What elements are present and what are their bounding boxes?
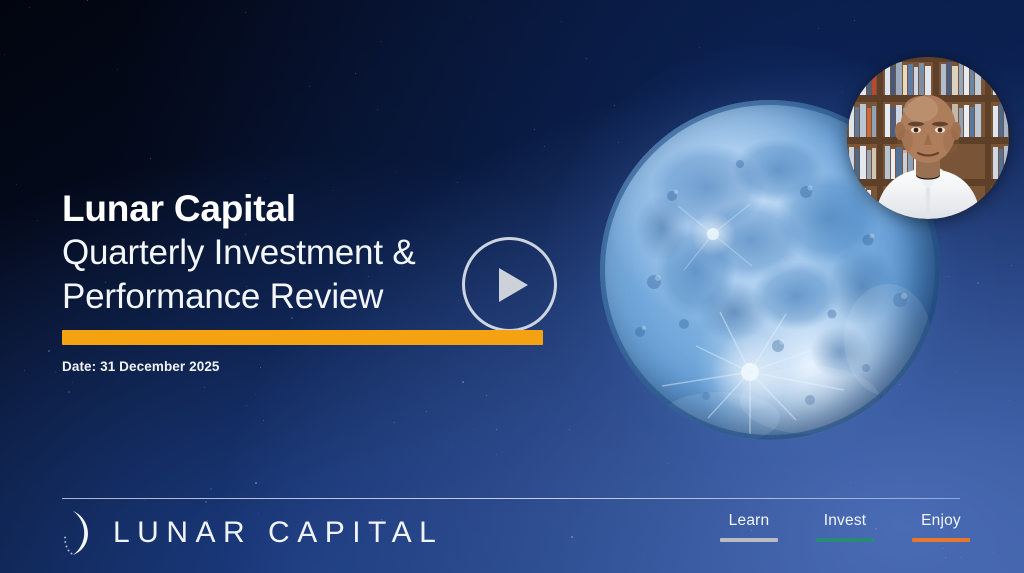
presentation-slide: Lunar Capital Quarterly Investment & Per… [0,0,1024,573]
nav-label-enjoy: Enjoy [921,512,961,530]
footer-divider [62,498,960,499]
nav-item-learn[interactable]: Learn [720,512,778,542]
title-block: Lunar Capital Quarterly Investment & Per… [62,188,582,374]
nav-underline-invest [816,538,874,542]
footer-nav: Learn Invest Enjoy [720,512,970,542]
brand-logo-text: LUNAR CAPITAL [113,518,443,548]
presenter-avatar [847,57,1009,219]
nav-underline-learn [720,538,778,542]
brand-logo: LUNAR CAPITAL [62,508,443,558]
nav-label-invest: Invest [824,512,867,530]
subtitle-line-2: Performance Review [62,275,582,319]
nav-underline-enjoy [912,538,970,542]
slide-date: Date: 31 December 2025 [62,359,582,374]
page-subtitle: Quarterly Investment & Performance Revie… [62,231,582,319]
crescent-moon-icon [62,508,104,558]
accent-rule [62,330,543,345]
subtitle-line-1: Quarterly Investment & [62,233,416,272]
presenter-webcam-bubble[interactable] [847,57,1009,219]
nav-label-learn: Learn [729,512,770,530]
nav-item-enjoy[interactable]: Enjoy [912,512,970,542]
page-title: Lunar Capital [62,188,582,229]
nav-item-invest[interactable]: Invest [816,512,874,542]
